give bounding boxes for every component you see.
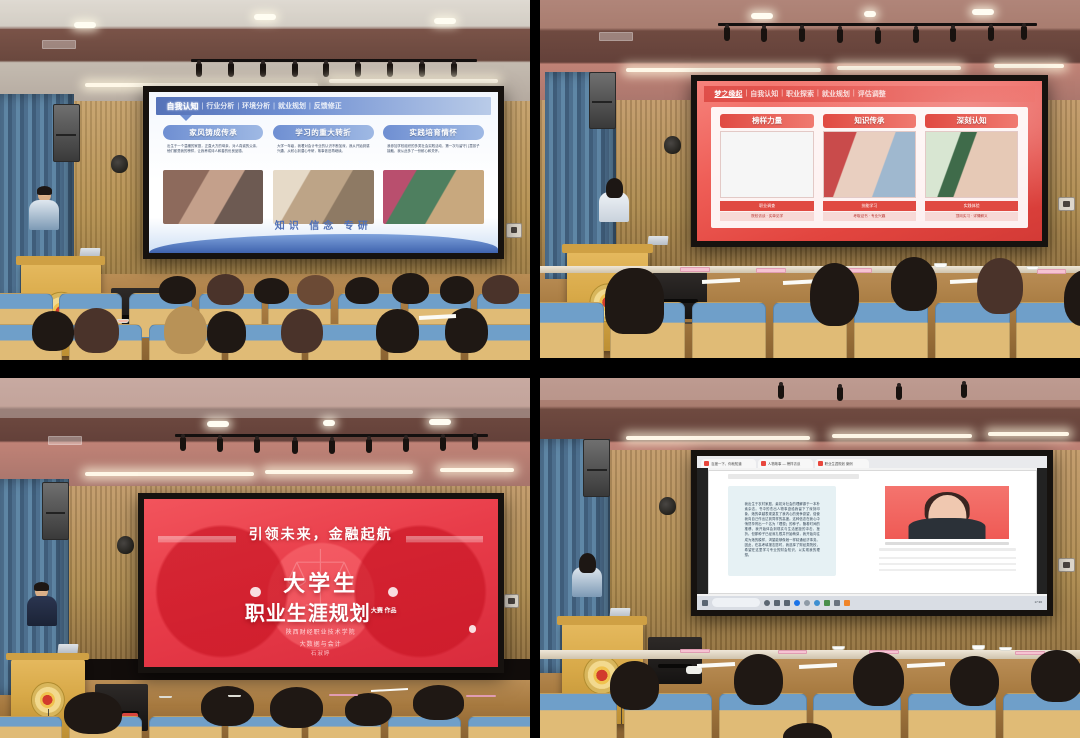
audience-head <box>159 276 196 304</box>
spotlight-icon <box>228 63 234 77</box>
linear-light <box>85 472 255 476</box>
slide-tagline: 引领未来，金融起航 <box>144 524 498 544</box>
browser-tab-bar[interactable]: 百度一下，你就知道 人物故事 — 榜样访谈 职业生涯规划 案例 <box>697 456 1047 468</box>
downlight-icon <box>254 14 276 20</box>
slide-card-caption: 技能学习 <box>823 201 916 211</box>
audience-head <box>392 273 429 304</box>
slide-nav-sep: | <box>273 103 275 110</box>
spotlight-icon <box>875 30 881 44</box>
slide-nav-item-2: 环境分析 <box>242 101 270 111</box>
slide-major: 大数据与会计 <box>144 639 498 648</box>
spotlight-icon <box>180 437 186 451</box>
audience-paper <box>907 662 945 668</box>
slide-card-title: 学习的重大转折 <box>273 125 373 140</box>
taskbar-app-icon[interactable] <box>774 600 780 606</box>
spotlight-icon <box>329 440 335 454</box>
downlight-icon <box>751 13 773 19</box>
slide-nav-sep: | <box>309 103 311 110</box>
slide-card-body: 大学一年级，我看对会计专业的认识不断加深，我从开始到感兴趣，从耐心到潜心专研，故… <box>273 144 373 168</box>
slide-card-subcaption: 考取证书 · 专业兴趣 <box>823 212 916 221</box>
spotlight-icon <box>254 439 260 453</box>
spotlight-icon <box>913 29 919 43</box>
slide-card-photo <box>383 170 483 224</box>
presenter-4 <box>572 554 602 597</box>
slide-signature: 知识 信念 专研 <box>149 217 497 232</box>
audience-cup <box>117 319 130 323</box>
taskbar-clock: 17:36 <box>1034 601 1042 605</box>
browser-tab-label: 人物故事 — 榜样访谈 <box>768 461 800 466</box>
spotlight-icon <box>472 436 478 450</box>
slide-white-panel: 榜样力量 职业调查 院校访谈 · 实单见学 知识传承 技能学习 考取证书 · <box>711 107 1028 228</box>
wall-speaker <box>589 72 616 129</box>
slide-nav: 自我认知 | 行业分析 | 环境分析 | 就业规划 | 反馈修正 <box>156 97 491 115</box>
seat <box>692 302 766 358</box>
audience-paper <box>697 662 735 668</box>
projection-screen: 自我认知 | 行业分析 | 环境分析 | 就业规划 | 反馈修正 <box>143 86 503 259</box>
presenter-3 <box>27 583 57 626</box>
spotlight-icon <box>837 29 843 43</box>
article-text-block: 我出生于农村家庭，最初对社会的理解源于一本朴素杂志。书中的杰出人物事迹给我留下了… <box>728 486 836 577</box>
spotlight-icon <box>988 27 994 41</box>
wall-speaker-small <box>659 497 676 515</box>
slide-nav-item-2: 职业探索 <box>786 89 814 99</box>
slide-browser-window: 百度一下，你就知道 人物故事 — 榜样访谈 职业生涯规划 案例 <box>697 456 1047 610</box>
seat <box>468 716 530 738</box>
linear-light <box>837 66 961 70</box>
audience-cup <box>228 695 241 697</box>
audience-head <box>853 652 904 706</box>
spotlight-icon <box>778 385 784 399</box>
slide-title-line2: 职业生涯规划大赛 作品 <box>144 597 498 626</box>
audience-head <box>345 277 379 304</box>
spotlight-icon <box>355 63 361 77</box>
favicon-icon <box>818 461 823 466</box>
ceiling-soffit <box>0 378 530 418</box>
photo-panel-bottom-left: 引领未来，金融起航 大学生 职业生涯规划大赛 作品 陕西财经职业技术学院 大数据… <box>0 378 530 738</box>
slide-card-title: 知识传承 <box>823 114 916 128</box>
slide-card-title: 实践培育情怀 <box>383 125 483 140</box>
slide-nav-item-0: 梦之缘起 <box>714 89 742 99</box>
slide-nav-item-3: 就业规划 <box>822 89 850 99</box>
wall-speaker <box>42 482 69 540</box>
taskbar-app-icon[interactable] <box>764 600 770 606</box>
wall-socket <box>1058 558 1074 572</box>
spotlight-icon <box>837 387 843 401</box>
slide-nav-item-1: 自我认知 <box>750 89 778 99</box>
audience-head <box>270 687 323 728</box>
taskbar-app-icon[interactable] <box>784 600 790 606</box>
linear-light <box>626 436 810 440</box>
presenter-hair <box>579 553 596 573</box>
spotlight-icon <box>217 438 223 452</box>
audience-head <box>440 276 474 304</box>
audience-cup <box>999 647 1012 651</box>
spotlight-icon <box>323 63 329 77</box>
downlight-icon <box>864 11 876 17</box>
audience-head <box>74 308 119 353</box>
spotlight-icon <box>403 438 409 452</box>
slide-card-subcaption: 顶岗实习 · 详情解义 <box>925 212 1018 221</box>
slide-card-group: 家风铸成传承 出生于一个温暖的家庭，正直大方的母亲，对人真诚的父亲，他们都是我的… <box>163 125 484 225</box>
wall-speaker <box>583 439 610 497</box>
taskbar-app-icon[interactable] <box>814 600 820 606</box>
article-text: 我出生于农村家庭，最初对社会的理解源于一本朴素杂志。书中的杰出人物事迹给我留下了… <box>745 502 820 558</box>
slide-organization: 陕西财经职业技术学院 <box>144 627 498 636</box>
wall-speaker <box>53 104 80 162</box>
article-body-lines <box>879 557 1016 574</box>
slide-card-subcaption: 院校访谈 · 实单见学 <box>720 212 813 221</box>
ceiling-vent-icon <box>48 436 82 445</box>
audience-head <box>254 278 288 304</box>
portrait-body <box>909 518 986 540</box>
lecture-hall-scene-4: 百度一下，你就知道 人物故事 — 榜样访谈 职业生涯规划 案例 <box>540 378 1080 738</box>
audience-paper <box>702 278 740 284</box>
audience-cup <box>832 646 845 650</box>
audience-cup <box>1026 266 1039 271</box>
presenter-body <box>29 200 59 230</box>
presenter-hair <box>34 582 49 591</box>
audience-cup <box>159 696 172 698</box>
audience-desk <box>540 650 1080 659</box>
wall-socket <box>1058 197 1074 211</box>
projection-screen: 百度一下，你就知道 人物故事 — 榜样访谈 职业生涯规划 案例 <box>691 450 1053 616</box>
name-card <box>680 649 710 653</box>
podium-top <box>557 616 648 625</box>
spotlight-icon <box>961 384 967 398</box>
slide-card-title: 深刻认知 <box>925 114 1018 128</box>
spotlight-icon <box>419 63 425 77</box>
slide-nav-sep: | <box>201 103 203 110</box>
audience-head <box>891 257 937 311</box>
favicon-icon <box>704 461 709 466</box>
linear-light <box>265 470 413 474</box>
slide-nav-item-4: 评估调整 <box>858 89 886 99</box>
browser-tab-label: 百度一下，你就知道 <box>711 461 742 466</box>
seat <box>0 716 62 738</box>
slide-card-photo <box>273 170 373 224</box>
lighting-track <box>191 59 477 62</box>
audience-area <box>540 251 1080 358</box>
audience-head <box>376 309 418 352</box>
name-card <box>1037 269 1067 274</box>
audience-area <box>0 266 530 360</box>
presenter-hair <box>37 186 52 195</box>
photo-panel-bottom-right: 百度一下，你就知道 人物故事 — 榜样访谈 职业生涯规划 案例 <box>540 378 1080 738</box>
spotlight-icon <box>1021 26 1027 40</box>
photo-panel-top-right: 梦之缘起 | 自我认知 | 职业探索 | 就业规划 | 评估调整 <box>540 0 1080 358</box>
seat <box>388 716 461 738</box>
seat <box>540 693 617 738</box>
slide-card-photo <box>823 131 916 198</box>
slide-nav-pointer-icon <box>180 115 192 121</box>
slide-nav-item-1: 行业分析 <box>206 101 234 111</box>
article-heading-placeholder <box>728 474 859 479</box>
slide-self-cognition: 自我认知 | 行业分析 | 环境分析 | 就业规划 | 反馈修正 <box>149 92 497 253</box>
spotlight-icon <box>260 63 266 77</box>
taskbar[interactable]: 17:36 <box>697 596 1047 610</box>
slide-card-title: 家风铸成传承 <box>163 125 263 140</box>
downlight-icon <box>74 22 96 28</box>
start-button-icon[interactable] <box>702 600 708 606</box>
audience-area <box>540 644 1080 738</box>
audience-head <box>32 311 74 350</box>
screen-surface: 引领未来，金融起航 大学生 职业生涯规划大赛 作品 陕西财经职业技术学院 大数据… <box>144 499 498 667</box>
presenter-2 <box>599 179 629 222</box>
led-wall: 梦之缘起 | 自我认知 | 职业探索 | 就业规划 | 评估调整 <box>691 75 1047 247</box>
podium-laptop <box>58 644 79 653</box>
audience-head <box>281 309 323 354</box>
led-wall: 引领未来，金融起航 大学生 职业生涯规划大赛 作品 陕西财经职业技术学院 大数据… <box>138 493 504 673</box>
seat <box>540 302 604 358</box>
spotlight-icon <box>451 63 457 77</box>
audience-head <box>810 263 859 325</box>
wall-speaker-small <box>664 136 681 154</box>
portrait-photo <box>885 486 1009 540</box>
spotlight-icon <box>366 439 372 453</box>
slide-competition-title: 引领未来，金融起航 大学生 职业生涯规划大赛 作品 陕西财经职业技术学院 大数据… <box>144 499 498 667</box>
linear-light <box>329 79 499 83</box>
ceiling-vent-icon <box>42 40 76 49</box>
audience-cup <box>972 645 985 649</box>
linear-light <box>994 64 1064 68</box>
audience-head <box>297 275 334 305</box>
audience-head <box>482 275 519 304</box>
slide-card-body: 出生于一个温暖的家庭，正直大方的母亲，对人真诚的父亲，他们都是我的榜样，让我养成… <box>163 144 263 168</box>
article-canvas: 我出生于农村家庭，最初对社会的理解源于一本朴素杂志。书中的杰出人物事迹给我留下了… <box>708 470 1037 594</box>
browser-tab-label: 职业生涯规划 案例 <box>825 461 853 466</box>
name-card <box>756 268 786 273</box>
screen-surface: 百度一下，你就知道 人物故事 — 榜样访谈 职业生涯规划 案例 <box>697 456 1047 610</box>
spotlight-icon <box>761 28 767 42</box>
slide-nav-sep: | <box>745 90 747 97</box>
slide-card-caption: 实践体验 <box>925 201 1018 211</box>
portrait-subcaption <box>879 548 1016 551</box>
screen-letterbox-right <box>1037 468 1047 594</box>
audience-head <box>413 685 463 720</box>
slide-card: 学习的重大转折 大学一年级，我看对会计专业的认识不断加深，我从开始到感兴趣，从耐… <box>273 125 373 225</box>
downlight-icon <box>207 421 229 427</box>
slide-nav-sep: | <box>237 103 239 110</box>
audience-cup <box>934 263 947 268</box>
browser-tab[interactable]: 百度一下，你就知道 <box>701 459 756 469</box>
browser-tab[interactable]: 职业生涯规划 案例 <box>815 459 870 469</box>
spotlight-icon <box>440 437 446 451</box>
slide-card-photo <box>925 131 1018 198</box>
photo-panel-top-left: 自我认知 | 行业分析 | 环境分析 | 就业规划 | 反馈修正 <box>0 0 530 360</box>
spotlight-icon <box>292 440 298 454</box>
presenter-hair <box>606 178 623 198</box>
slide-nav: 梦之缘起 | 自我认知 | 职业探索 | 就业规划 | 评估调整 <box>704 86 1035 102</box>
audience-head <box>345 693 393 726</box>
name-card <box>778 650 808 654</box>
wall-socket <box>504 594 520 608</box>
ceiling-soffit <box>540 378 1080 400</box>
presenter-body <box>27 596 57 626</box>
slide-card-photo <box>720 131 813 198</box>
lecture-hall-scene-1: 自我认知 | 行业分析 | 环境分析 | 就业规划 | 反馈修正 <box>0 0 530 360</box>
slide-nav-item-3: 就业规划 <box>278 101 306 111</box>
slide-presenter-name: 石淑婷 <box>144 649 498 657</box>
podium-top <box>16 256 105 264</box>
slide-title-line2-text: 职业生涯规划 <box>245 603 371 625</box>
audience-head <box>164 306 206 355</box>
screen-surface: 梦之缘起 | 自我认知 | 职业探索 | 就业规划 | 评估调整 <box>697 81 1041 241</box>
lecture-hall-scene-2: 梦之缘起 | 自我认知 | 职业探索 | 就业规划 | 评估调整 <box>540 0 1080 358</box>
slide-card: 实践培育情怀 我参加学校组织的多类社会实践活动，第一次与留守儿童孩子接触，我从此… <box>383 125 483 225</box>
slide-card: 知识传承 技能学习 考取证书 · 专业兴趣 <box>823 114 916 221</box>
spotlight-icon <box>292 63 298 77</box>
linear-light <box>440 468 514 472</box>
linear-light <box>626 68 820 72</box>
name-card <box>680 267 710 272</box>
downlight-icon <box>323 420 335 426</box>
audience-head <box>734 654 783 705</box>
audience-head <box>610 661 659 710</box>
slide-card-photo <box>163 170 263 224</box>
presenter-1 <box>29 187 59 230</box>
screen-letterbox-left <box>697 468 707 594</box>
taskbar-app-icon[interactable] <box>824 600 830 606</box>
spotlight-icon <box>896 386 902 400</box>
taskbar-app-icon[interactable] <box>834 600 840 606</box>
photo-collage: 自我认知 | 行业分析 | 环境分析 | 就业规划 | 反馈修正 <box>0 0 1080 738</box>
name-card <box>466 695 495 697</box>
slide-title-suffix: 大赛 作品 <box>371 608 397 614</box>
taskbar-app-icon[interactable] <box>804 600 810 606</box>
slide-nav-item-4: 反馈修正 <box>314 101 342 111</box>
spotlight-icon <box>196 63 202 77</box>
slide-card: 深刻认知 实践体验 顶岗实习 · 详情解义 <box>925 114 1018 221</box>
taskbar-app-icon[interactable] <box>794 600 800 606</box>
slide-nav-sep: | <box>781 90 783 97</box>
audience-head <box>207 311 247 352</box>
audience-head <box>207 274 244 305</box>
slide-card-body: 我参加学校组织的多类社会实践活动，第一次与留守儿童孩子接触，我从此多了一份耐心和… <box>383 144 483 168</box>
slide-footer-wave <box>149 234 497 253</box>
downlight-icon <box>434 18 456 24</box>
linear-light <box>832 434 972 438</box>
audience-paper <box>799 663 837 669</box>
wall-speaker-small <box>111 155 128 173</box>
audience-area <box>0 684 530 738</box>
audience-head <box>605 268 664 335</box>
linear-light <box>988 432 1069 436</box>
spotlight-icon <box>950 28 956 42</box>
slide-card: 榜样力量 职业调查 院校访谈 · 实单见学 <box>720 114 813 221</box>
slide-nav-sep: | <box>817 90 819 97</box>
slide-nav-sep: | <box>853 90 855 97</box>
slide-card-title: 榜样力量 <box>720 114 813 128</box>
portrait-caption <box>885 542 1009 546</box>
lecture-hall-scene-3: 引领未来，金融起航 大学生 职业生涯规划大赛 作品 陕西财经职业技术学院 大数据… <box>0 378 530 738</box>
browser-tab[interactable]: 人物故事 — 榜样访谈 <box>758 459 813 469</box>
name-card <box>329 694 358 696</box>
spotlight-icon <box>387 63 393 77</box>
audience-paper <box>371 688 408 692</box>
slide-card: 家风铸成传承 出生于一个温暖的家庭，正直大方的母亲，对人真诚的父亲，他们都是我的… <box>163 125 263 225</box>
screen-surface: 自我认知 | 行业分析 | 环境分析 | 就业规划 | 反馈修正 <box>149 92 497 253</box>
audience-head <box>950 656 999 707</box>
taskbar-app-icon[interactable] <box>844 600 850 606</box>
downlight-icon <box>972 9 994 15</box>
wall-socket <box>506 223 522 237</box>
slide-card-caption: 职业调查 <box>720 201 813 211</box>
audience-head <box>1031 650 1080 702</box>
slide-title-line1: 大学生 <box>144 566 498 598</box>
downlight-icon <box>429 419 451 425</box>
slide-career-exploration: 梦之缘起 | 自我认知 | 职业探索 | 就业规划 | 评估调整 <box>697 81 1041 241</box>
taskbar-search-input[interactable] <box>712 598 760 607</box>
spotlight-icon <box>724 27 730 41</box>
audience-head <box>64 692 122 734</box>
audience-head <box>977 258 1023 314</box>
audience-head <box>201 686 254 726</box>
favicon-icon <box>761 461 766 466</box>
podium-top <box>6 653 89 660</box>
ceiling-vent-icon <box>599 32 633 41</box>
spotlight-icon <box>799 28 805 42</box>
slide-nav-item-0: 自我认知 <box>166 101 198 112</box>
wall-speaker-small <box>117 536 134 554</box>
slide-card-group: 榜样力量 职业调查 院校访谈 · 实单见学 知识传承 技能学习 考取证书 · <box>720 114 1018 221</box>
